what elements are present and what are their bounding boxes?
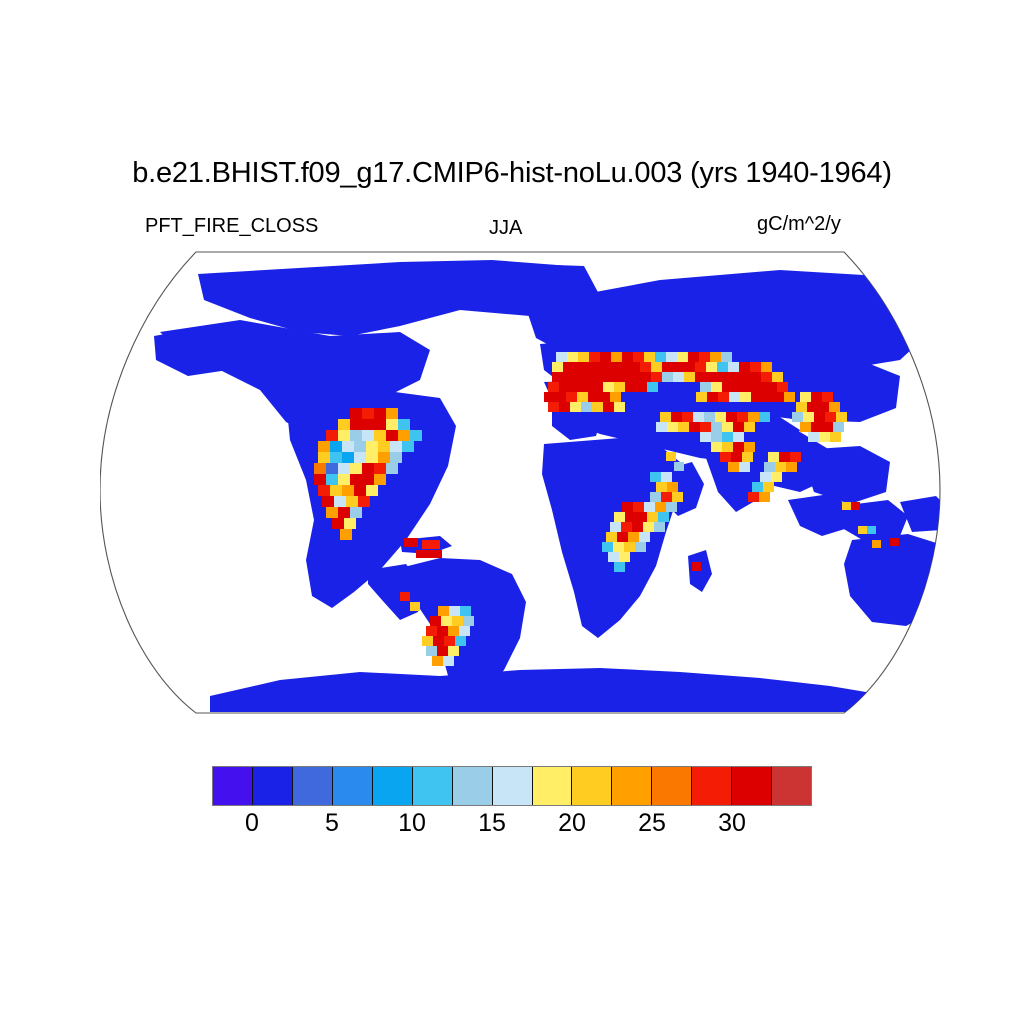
variable-label: PFT_FIRE_CLOSS — [145, 214, 318, 238]
world-map — [100, 240, 980, 740]
figure-title: b.e21.BHIST.f09_g17.CMIP6-hist-noLu.003 … — [0, 155, 1024, 191]
units-label: gC/m^2/y — [757, 212, 841, 236]
colorbar-cell — [453, 767, 493, 805]
colorbar-tick-label: 20 — [558, 808, 586, 838]
colorbar-cell — [293, 767, 333, 805]
colorbar-cell — [572, 767, 612, 805]
season-label: JJA — [489, 216, 522, 240]
colorbar-cell — [612, 767, 652, 805]
colorbar-cell — [333, 767, 373, 805]
colorbar-cell — [373, 767, 413, 805]
colorbar-cell — [533, 767, 573, 805]
colorbar-tick-label: 10 — [398, 808, 426, 838]
colorbar-cell — [652, 767, 692, 805]
colorbar-tick-label: 5 — [325, 808, 339, 838]
colorbar-cell — [493, 767, 533, 805]
map-svg — [100, 240, 980, 740]
colorbar-tick-label: 0 — [245, 808, 259, 838]
colorbar-cell — [413, 767, 453, 805]
colorbar-tick-label: 30 — [718, 808, 746, 838]
colorbar-cell — [732, 767, 772, 805]
colorbar[interactable] — [212, 766, 812, 806]
colorbar-cell — [213, 767, 253, 805]
colorbar-tick-label: 15 — [478, 808, 506, 838]
colorbar-cell — [692, 767, 732, 805]
colorbar-cell — [253, 767, 293, 805]
colorbar-ticks: 051015202530 — [0, 808, 1024, 848]
colorbar-tick-label: 25 — [638, 808, 666, 838]
figure-panel: b.e21.BHIST.f09_g17.CMIP6-hist-noLu.003 … — [0, 0, 1024, 1024]
colorbar-cell — [772, 767, 811, 805]
